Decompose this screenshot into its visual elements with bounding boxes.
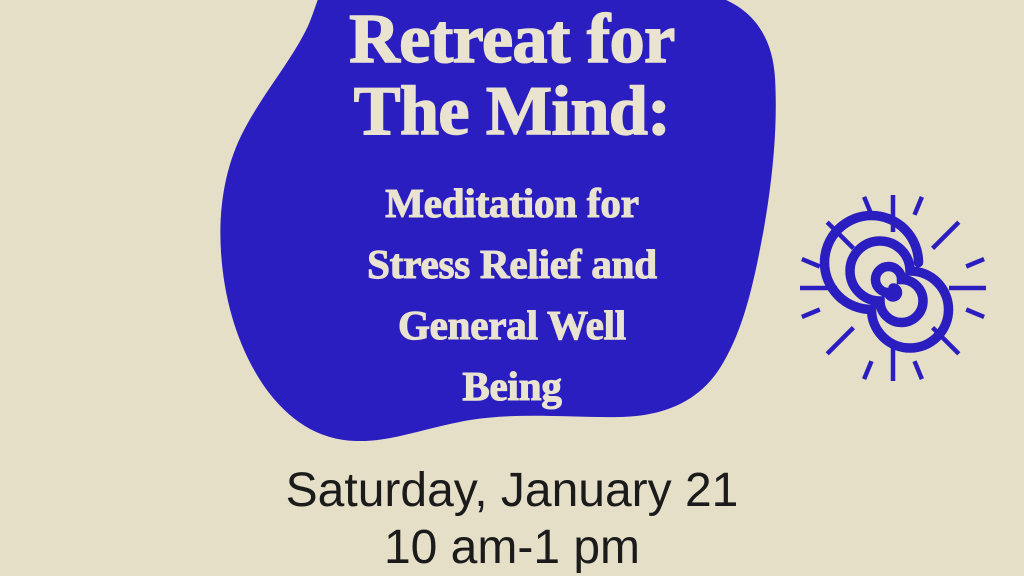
schedule-date: Saturday, January 21 bbox=[0, 462, 1024, 519]
schedule-block: Saturday, January 21 10 am-1 pm bbox=[0, 462, 1024, 576]
schedule-time: 10 am-1 pm bbox=[0, 519, 1024, 576]
spiral-sun-svg bbox=[793, 188, 993, 388]
poster-canvas: Retreat for The Mind: Meditation for Str… bbox=[0, 0, 1024, 576]
subtitle-line-4: Being bbox=[232, 356, 792, 417]
title-line-1: Retreat for bbox=[232, 4, 792, 76]
subtitle-line-2: Stress Relief and bbox=[232, 234, 792, 295]
title-line-2: The Mind: bbox=[232, 76, 792, 148]
subtitle-line-3: General Well bbox=[232, 295, 792, 356]
headline-block: Retreat for The Mind: Meditation for Str… bbox=[232, 0, 792, 417]
spiral-sun-icon bbox=[793, 188, 993, 388]
subtitle-line-1: Meditation for bbox=[232, 173, 792, 234]
